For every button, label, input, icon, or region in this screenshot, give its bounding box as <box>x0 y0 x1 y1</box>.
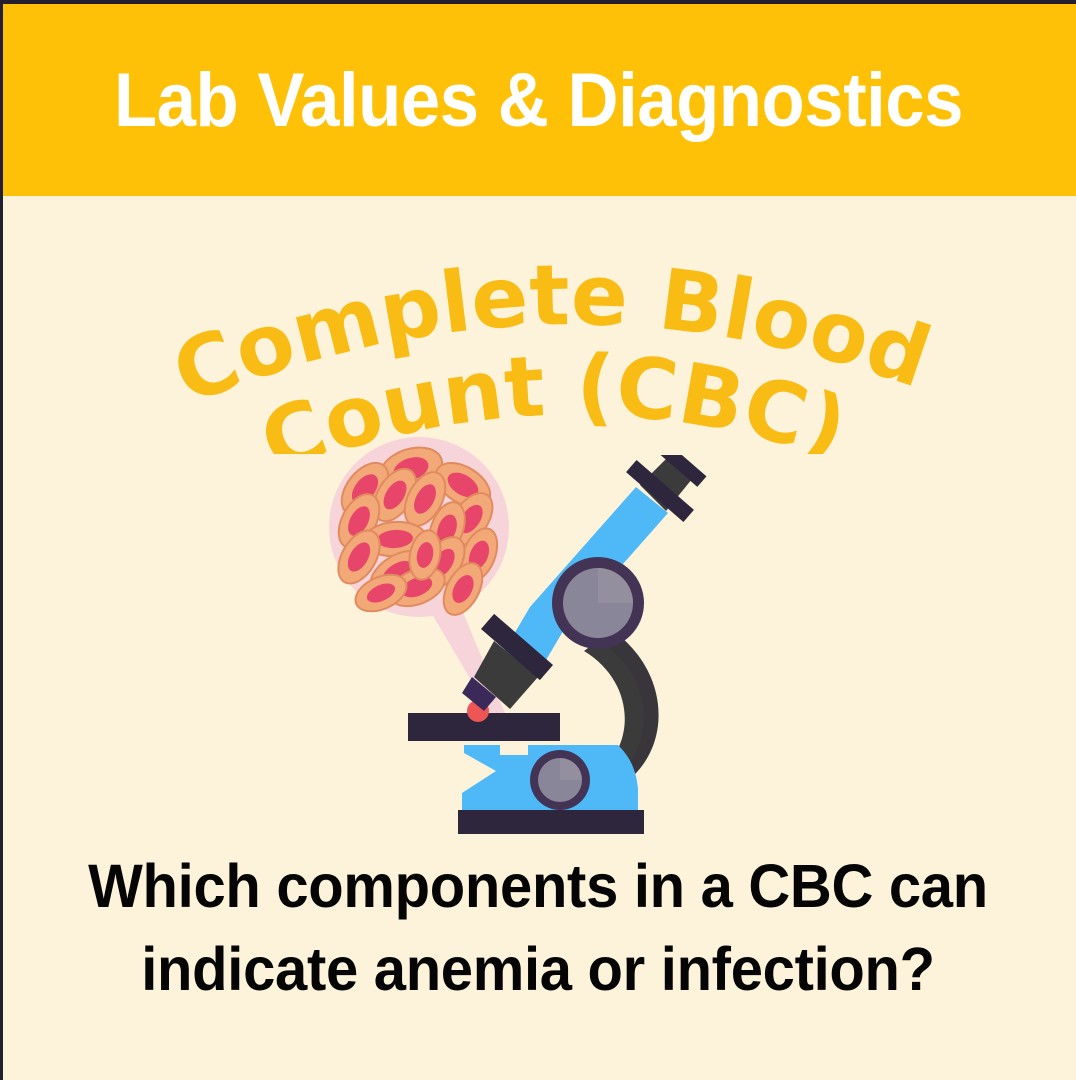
lab-values-card: Lab Values & Diagnostics Complete Blood … <box>0 0 1076 1080</box>
question-text: Which components in a CBC can indicate a… <box>0 845 1076 1011</box>
microscope-illustration <box>400 455 740 845</box>
microscope-base-plate <box>458 810 644 834</box>
header-band: Lab Values & Diagnostics <box>0 0 1076 196</box>
question-line-2: indicate anemia or infection? <box>27 928 1049 1011</box>
left-edge-strip <box>0 0 3 1080</box>
page-title: Lab Values & Diagnostics <box>113 57 962 139</box>
question-line-1: Which components in a CBC can <box>27 845 1049 928</box>
top-edge-strip <box>0 0 1076 4</box>
arc-title: Complete Blood Count (CBC) <box>0 214 1076 454</box>
